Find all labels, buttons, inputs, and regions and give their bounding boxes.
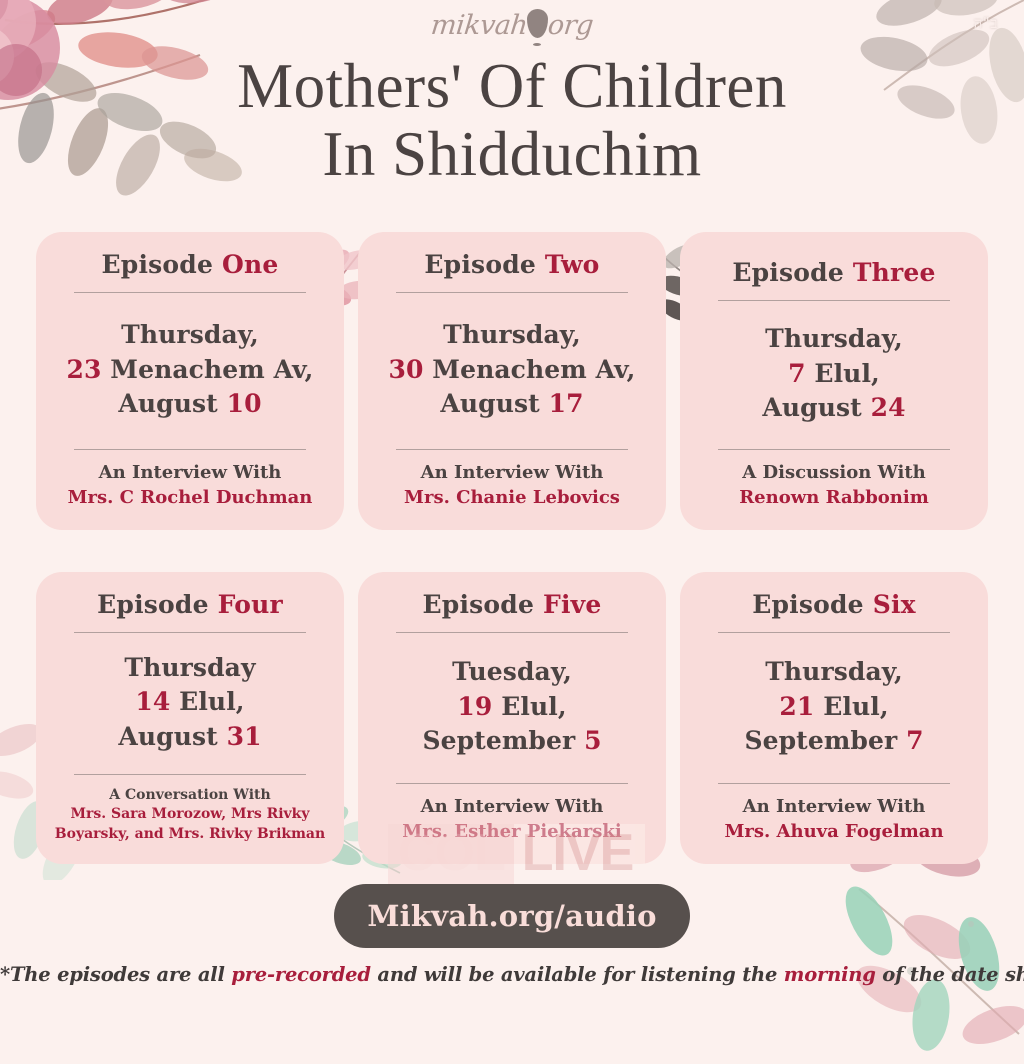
episode-label: Episode (97, 590, 209, 619)
water-droplet-icon (527, 9, 548, 38)
weekday: Thursday, (765, 657, 903, 686)
hebrew-month: Elul, (814, 359, 879, 388)
episode-three-heading: Episode Three (696, 258, 972, 287)
gregorian-month: August (118, 389, 217, 418)
episode-card-three[interactable]: Episode Three Thursday, 7 Elul, August 2… (680, 232, 988, 530)
episode-grid: Episode One Thursday, 23 Menachem Av, Au… (36, 232, 988, 864)
episode-five-datezone: Tuesday, 19 Elul, September 5 (374, 633, 650, 783)
episode-six-guest: An Interview With Mrs. Ahuva Fogelman (696, 784, 972, 844)
gregorian-month: September (744, 726, 897, 755)
episode-six-heading: Episode Six (696, 590, 972, 619)
gregorian-day: 7 (906, 726, 924, 755)
episode-six-datezone: Thursday, 21 Elul, September 7 (696, 633, 972, 783)
episode-label: Episode (102, 250, 214, 279)
episode-card-four[interactable]: Episode Four Thursday 14 Elul, August 31… (36, 572, 344, 864)
divider-top (74, 292, 306, 293)
divider-top (718, 632, 950, 633)
gregorian-month: August (118, 722, 217, 751)
hebrew-day: 19 (457, 692, 492, 721)
episode-five-date: Tuesday, 19 Elul, September 5 (422, 655, 601, 759)
guest-name: Mrs. Sara Morozow, Mrs Rivky (52, 805, 328, 824)
episode-four-datezone: Thursday 14 Elul, August 31 (52, 633, 328, 774)
episode-card-one[interactable]: Episode One Thursday, 23 Menachem Av, Au… (36, 232, 344, 530)
guest-intro: A Conversation With (52, 786, 328, 805)
divider-bottom (396, 449, 628, 450)
episode-label: Episode (732, 258, 844, 287)
episode-number: One (222, 250, 278, 279)
gregorian-day: 17 (549, 389, 584, 418)
page-title-line-2: In Shidduchim (322, 119, 701, 189)
hebrew-day: 7 (788, 359, 806, 388)
episode-one-date: Thursday, 23 Menachem Av, August 10 (66, 318, 313, 422)
footer-part-3: of the date shown.* (876, 963, 1024, 986)
guest-intro: An Interview With (374, 461, 650, 485)
page-title: Mothers' Of Children In Shidduchim (0, 52, 1024, 188)
episode-card-two[interactable]: Episode Two Thursday, 30 Menachem Av, Au… (358, 232, 666, 530)
hebrew-day: 21 (779, 692, 814, 721)
guest-name: Mrs. Esther Piekarski (374, 820, 650, 844)
gregorian-month: September (422, 726, 575, 755)
episode-number: Six (873, 590, 916, 619)
footer-highlight-morning: morning (784, 963, 876, 986)
hebrew-month: Menachem Av, (432, 355, 635, 384)
hebrew-day: 23 (66, 355, 101, 384)
episode-one-heading: Episode One (52, 250, 328, 279)
episode-two-datezone: Thursday, 30 Menachem Av, August 17 (374, 293, 650, 449)
guest-name: Mrs. C Rochel Duchman (52, 486, 328, 510)
gregorian-day: 31 (227, 722, 262, 751)
footer-part-1: *The episodes are all (0, 963, 231, 986)
guest-name: Mrs. Chanie Lebovics (374, 486, 650, 510)
episode-two-guest: An Interview With Mrs. Chanie Lebovics (374, 450, 650, 510)
footer-highlight-prerecorded: pre-recorded (231, 963, 371, 986)
guest-intro: An Interview With (52, 461, 328, 485)
weekday: Thursday, (121, 320, 259, 349)
episode-three-guest: A Discussion With Renown Rabbonim (696, 450, 972, 510)
weekday: Thursday, (765, 324, 903, 353)
guest-name: Renown Rabbonim (696, 486, 972, 510)
divider-top (718, 300, 950, 301)
divider-bottom (718, 783, 950, 784)
episode-label: Episode (423, 590, 535, 619)
episode-card-five[interactable]: Episode Five Tuesday, 19 Elul, September… (358, 572, 666, 864)
episode-three-date: Thursday, 7 Elul, August 24 (762, 322, 905, 426)
divider-top (396, 292, 628, 293)
episode-one-datezone: Thursday, 23 Menachem Av, August 10 (52, 293, 328, 449)
episode-five-heading: Episode Five (374, 590, 650, 619)
guest-name-line-2: Boyarsky, and Mrs. Rivky Brikman (52, 825, 328, 844)
page-title-line-1: Mothers' Of Children (237, 51, 787, 121)
hebrew-month: Elul, (823, 692, 888, 721)
hebrew-month: Elul, (501, 692, 566, 721)
guest-intro: A Discussion With (696, 461, 972, 485)
guest-name: Mrs. Ahuva Fogelman (696, 820, 972, 844)
footer-part-2: and will be available for listening the (371, 963, 784, 986)
weekday: Thursday, (443, 320, 581, 349)
hebrew-blessing: ב"ה (974, 14, 998, 33)
divider-bottom (74, 774, 306, 775)
episode-number: Four (218, 590, 283, 619)
gregorian-day: 10 (227, 389, 262, 418)
episode-two-heading: Episode Two (374, 250, 650, 279)
guest-intro: An Interview With (696, 795, 972, 819)
hebrew-day: 30 (388, 355, 423, 384)
gregorian-month: August (440, 389, 539, 418)
gregorian-day: 5 (584, 726, 602, 755)
episode-three-datezone: Thursday, 7 Elul, August 24 (696, 301, 972, 449)
mikvah-org-logo[interactable]: mikvah org (431, 10, 593, 41)
hebrew-month: Elul, (179, 687, 244, 716)
footer-disclaimer: *The episodes are all pre-recorded and w… (0, 963, 1024, 986)
episode-number: Two (545, 250, 600, 279)
episode-one-guest: An Interview With Mrs. C Rochel Duchman (52, 450, 328, 510)
weekday: Tuesday, (452, 657, 572, 686)
logo-text-org: org (547, 10, 595, 41)
logo-text-mikvah: mikvah (429, 10, 529, 41)
gregorian-month: August (762, 393, 861, 422)
divider-top (74, 632, 306, 633)
divider-bottom (396, 783, 628, 784)
hebrew-month: Menachem Av, (110, 355, 313, 384)
episode-label: Episode (424, 250, 536, 279)
audio-link-button[interactable]: Mikvah.org/audio (334, 884, 690, 948)
divider-bottom (74, 449, 306, 450)
episode-two-date: Thursday, 30 Menachem Av, August 17 (388, 318, 635, 422)
divider-top (396, 632, 628, 633)
episode-label: Episode (752, 590, 864, 619)
episode-five-guest: An Interview With Mrs. Esther Piekarski (374, 784, 650, 844)
gregorian-day: 24 (871, 393, 906, 422)
guest-intro: An Interview With (374, 795, 650, 819)
episode-number: Five (543, 590, 601, 619)
hebrew-day: 14 (135, 687, 170, 716)
episode-six-date: Thursday, 21 Elul, September 7 (744, 655, 923, 759)
episode-four-date: Thursday 14 Elul, August 31 (118, 651, 261, 755)
episode-number: Three (853, 258, 936, 287)
episode-four-heading: Episode Four (52, 590, 328, 619)
episode-card-six[interactable]: Episode Six Thursday, 21 Elul, September… (680, 572, 988, 864)
divider-bottom (718, 449, 950, 450)
weekday: Thursday (124, 653, 255, 682)
episode-four-guest: A Conversation With Mrs. Sara Morozow, M… (52, 775, 328, 844)
